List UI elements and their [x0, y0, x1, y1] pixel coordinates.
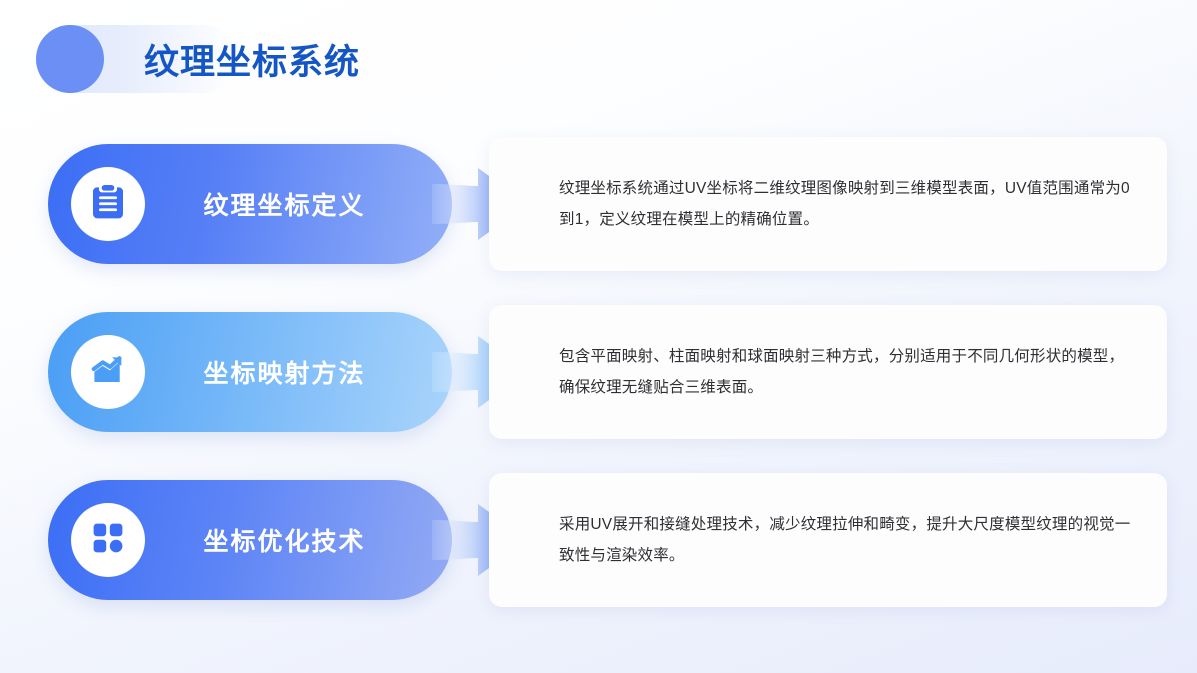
- grid-squares-icon: [90, 520, 126, 561]
- step-label-2: 坐标映射方法: [145, 354, 452, 390]
- icon-badge-1: [71, 167, 145, 241]
- description-card-3: 采用UV展开和接缝处理技术，减少纹理拉伸和畸变，提升大尺度模型纹理的视觉一致性与…: [489, 473, 1167, 607]
- description-card-2: 包含平面映射、柱面映射和球面映射三种方式，分别适用于不同几何形状的模型，确保纹理…: [489, 305, 1167, 439]
- page-title: 纹理坐标系统: [144, 34, 360, 85]
- content-row-3: 坐标优化技术 采用UV展开和接缝处理技术，减少纹理拉伸和畸变，提升大尺度模型纹理…: [0, 468, 1197, 628]
- description-card-1: 纹理坐标系统通过UV坐标将二维纹理图像映射到三维模型表面，UV值范围通常为0到1…: [489, 137, 1167, 271]
- description-text-1: 纹理坐标系统通过UV坐标将二维纹理图像映射到三维模型表面，UV值范围通常为0到1…: [489, 173, 1167, 235]
- step-pill-2[interactable]: 坐标映射方法: [48, 312, 452, 432]
- content-row-2: 坐标映射方法 包含平面映射、柱面映射和球面映射三种方式，分别适用于不同几何形状的…: [0, 300, 1197, 460]
- content-row-1: 纹理坐标定义 纹理坐标系统通过UV坐标将二维纹理图像映射到三维模型表面，UV值范…: [0, 132, 1197, 292]
- step-label-1: 纹理坐标定义: [145, 186, 452, 222]
- step-pill-3[interactable]: 坐标优化技术: [48, 480, 452, 600]
- icon-badge-2: [71, 335, 145, 409]
- description-text-2: 包含平面映射、柱面映射和球面映射三种方式，分别适用于不同几何形状的模型，确保纹理…: [489, 341, 1167, 403]
- description-text-3: 采用UV展开和接缝处理技术，减少纹理拉伸和畸变，提升大尺度模型纹理的视觉一致性与…: [489, 509, 1167, 571]
- step-label-3: 坐标优化技术: [145, 522, 452, 558]
- icon-badge-3: [71, 503, 145, 577]
- header: 纹理坐标系统: [0, 0, 1197, 120]
- title-decoration-circle: [36, 25, 104, 93]
- slide-canvas: 纹理坐标系统 纹理坐标定义: [0, 0, 1197, 673]
- step-pill-1[interactable]: 纹理坐标定义: [48, 144, 452, 264]
- clipboard-icon: [88, 182, 128, 227]
- trend-chart-icon: [89, 351, 127, 394]
